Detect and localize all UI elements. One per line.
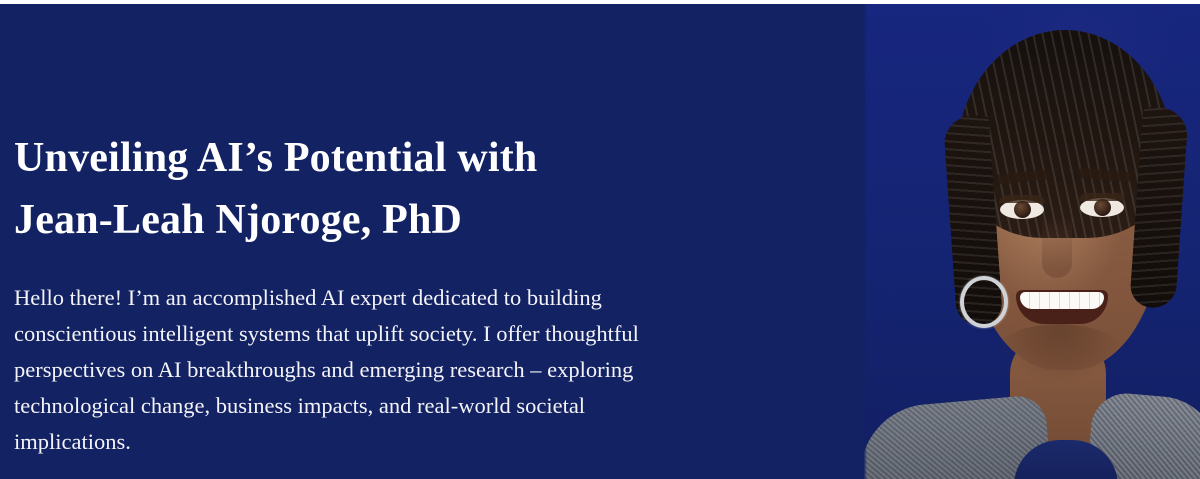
- page-title-line-1: Unveiling AI’s Potential with: [14, 127, 834, 189]
- hero-banner: Unveiling AI’s Potential with Jean-Leah …: [0, 0, 1200, 479]
- portrait-nose: [1042, 216, 1072, 278]
- page-title-line-2: Jean-Leah Njoroge, PhD: [14, 189, 834, 251]
- portrait-eyelid-right: [1079, 193, 1125, 201]
- portrait-iris-right: [1094, 199, 1111, 216]
- hero-description-line-4: technological change, business impacts, …: [14, 388, 844, 424]
- page-title: Unveiling AI’s Potential with Jean-Leah …: [14, 127, 834, 251]
- hero-description-line-5: implications.: [14, 424, 844, 460]
- portrait-eyelid-left: [999, 195, 1045, 203]
- hoop-earring-icon: [960, 276, 1008, 328]
- hero-text-column: Unveiling AI’s Potential with Jean-Leah …: [14, 4, 854, 479]
- hero-description-line-2: conscientious intelligent systems that u…: [14, 316, 844, 352]
- hero-description-line-1: Hello there! I’m an accomplished AI expe…: [14, 280, 844, 316]
- hero-description: Hello there! I’m an accomplished AI expe…: [14, 280, 844, 460]
- portrait-panel-seam: [864, 4, 867, 479]
- portrait-chin-shadow: [994, 324, 1124, 384]
- hero-description-line-3: perspectives on AI breakthroughs and eme…: [14, 352, 844, 388]
- portrait-photo: [864, 4, 1200, 479]
- portrait-panel: [864, 4, 1200, 479]
- portrait-teeth: [1020, 292, 1104, 309]
- portrait-iris-left: [1014, 201, 1031, 218]
